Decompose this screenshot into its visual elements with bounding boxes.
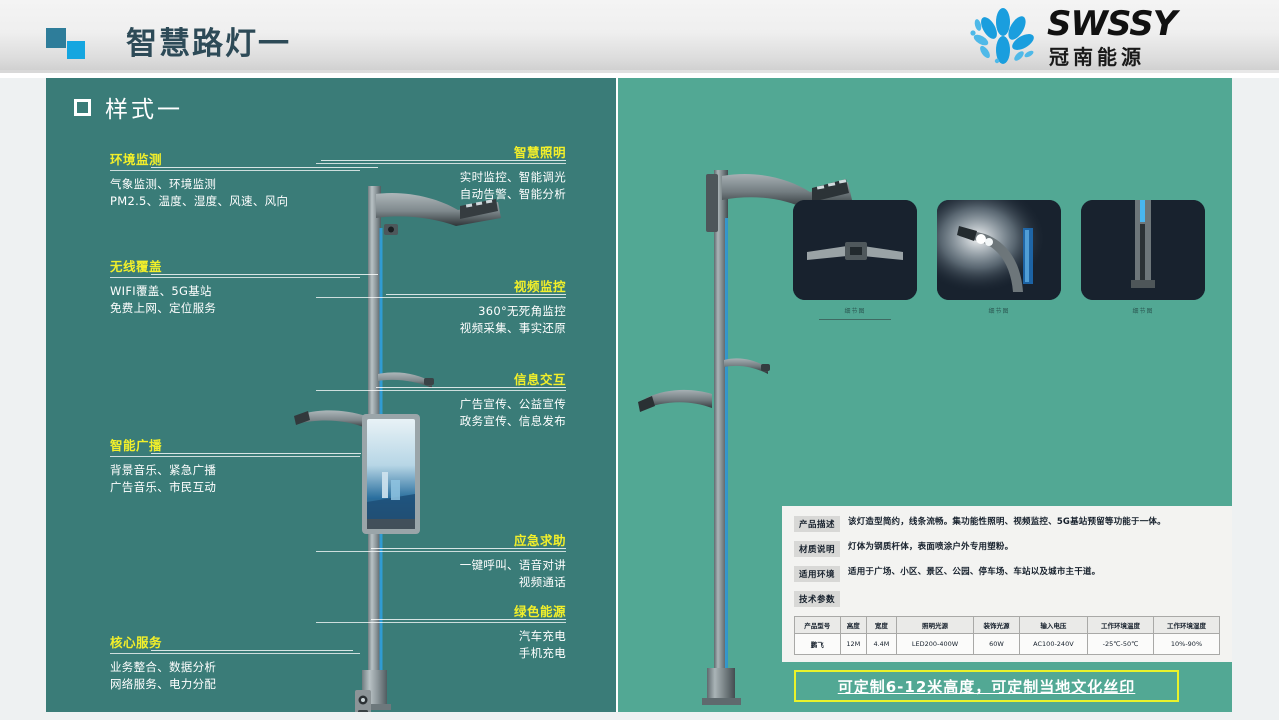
callout-video-surveillance: 视频监控 360°无死角监控 视频采集、事实还原 xyxy=(316,276,566,337)
table-cell: 鹏飞 xyxy=(795,634,841,655)
table-header-row: 产品型号 高度 宽度 照明光源 装饰光源 输入电压 工作环境温度 工作环境湿度 xyxy=(795,617,1220,634)
table-header-cell: 产品型号 xyxy=(795,617,841,634)
bottom-margin-strip xyxy=(0,712,1279,720)
spec-row-description: 产品描述 该灯造型简约，线条流畅。集功能性照明、视频监控、5G基站预留等功能于一… xyxy=(794,516,1220,532)
table-cell: AC100-240V xyxy=(1019,634,1087,655)
callout-line: 实时监控、智能调光 xyxy=(316,169,566,186)
callout-rule xyxy=(316,622,566,623)
callout-rule xyxy=(316,297,566,298)
spec-value: 该灯造型简约，线条流畅。集功能性照明、视频监控、5G基站预留等功能于一体。 xyxy=(848,516,1166,529)
callout-line: 手机充电 xyxy=(316,645,566,662)
callout-line: 背景音乐、紧急广播 xyxy=(110,462,360,479)
brand-subtitle: 冠南能源 xyxy=(1049,41,1145,70)
callout-title: 智慧照明 xyxy=(316,142,566,163)
callout-rule xyxy=(316,551,566,552)
customization-banner: 可定制6-12米高度，可定制当地文化丝印 xyxy=(794,670,1179,702)
table-cell: 60W xyxy=(974,634,1020,655)
thumbnail-caption: 细节图 xyxy=(1081,306,1205,315)
header-divider xyxy=(0,70,1279,73)
callout-information-interaction: 信息交互 广告宣传、公益宣传 政务宣传、信息发布 xyxy=(316,369,566,430)
customization-banner-text: 可定制6-12米高度，可定制当地文化丝印 xyxy=(838,676,1136,697)
spec-tag: 材质说明 xyxy=(794,541,840,557)
callout-rule xyxy=(316,163,566,164)
detail-thumbnail-row: 细节图 xyxy=(793,200,1205,320)
callout-green-energy: 绿色能源 汽车充电 手机充电 xyxy=(316,601,566,662)
table-row: 鹏飞 12M 4.4M LED200-400W 60W AC100-240V -… xyxy=(795,634,1220,655)
callout-line: 广告宣传、公益宣传 xyxy=(316,396,566,413)
table-cell: 4.4M xyxy=(867,634,897,655)
spec-tag: 产品描述 xyxy=(794,516,840,532)
header-square-dark-icon xyxy=(46,28,66,48)
spec-row-material: 材质说明 灯体为钢质杆体，表面喷涂户外专用塑粉。 xyxy=(794,541,1220,557)
callout-line: 360°无死角监控 xyxy=(316,303,566,320)
table-header-cell: 照明光源 xyxy=(896,617,973,634)
thumbnail-image-lit-lamp[interactable] xyxy=(937,200,1061,300)
company-logo: SWSSY 冠南能源 xyxy=(967,4,1217,68)
header-square-blue-icon xyxy=(67,41,85,59)
callout-title: 视频监控 xyxy=(316,276,566,297)
brand-name: SWSSY xyxy=(1047,4,1176,44)
product-spec-card: 产品描述 该灯造型简约，线条流畅。集功能性照明、视频监控、5G基站预留等功能于一… xyxy=(782,506,1232,662)
callout-line: 视频通话 xyxy=(316,574,566,591)
callout-line: 广告音乐、市民互动 xyxy=(110,479,360,496)
callout-rule xyxy=(316,390,566,391)
spec-tag: 适用环境 xyxy=(794,566,840,582)
water-droplet-logo-icon xyxy=(967,6,1039,66)
callout-line: 视频采集、事实还原 xyxy=(316,320,566,337)
table-header-cell: 装饰光源 xyxy=(974,617,1020,634)
callout-line: 网络服务、电力分配 xyxy=(110,676,360,693)
callout-line: 汽车充电 xyxy=(316,628,566,645)
callout-line: 一键呼叫、语音对讲 xyxy=(316,557,566,574)
table-cell: 12M xyxy=(840,634,867,655)
callout-title: 应急求助 xyxy=(316,530,566,551)
thumbnail-item[interactable]: 细节图 xyxy=(937,200,1061,320)
spec-table: 产品型号 高度 宽度 照明光源 装饰光源 输入电压 工作环境温度 工作环境湿度 … xyxy=(794,616,1220,655)
spec-value: 适用于广场、小区、景区、公园、停车场、车站以及城市主干道。 xyxy=(848,566,1100,579)
pole-section-detail-art xyxy=(1081,200,1205,300)
callout-rule xyxy=(110,456,360,457)
lit-lamp-detail-art xyxy=(937,200,1061,300)
slide-header: 智慧路灯一 xyxy=(0,0,1279,72)
thumbnail-underline xyxy=(819,319,891,320)
callout-line: 政务宣传、信息发布 xyxy=(316,413,566,430)
spec-value: 灯体为钢质杆体，表面喷涂户外专用塑粉。 xyxy=(848,541,1013,554)
left-diagram-panel: 样式一 xyxy=(46,78,616,712)
callout-title: 无线覆盖 xyxy=(110,256,360,277)
table-header-cell: 宽度 xyxy=(867,617,897,634)
thumbnail-caption: 细节图 xyxy=(937,306,1061,315)
thumbnail-caption: 细节图 xyxy=(793,306,917,315)
thumbnail-item[interactable]: 细节图 xyxy=(793,200,917,320)
right-product-panel: 细节图 xyxy=(618,78,1232,712)
table-header-cell: 高度 xyxy=(840,617,867,634)
callout-smart-broadcast: 智能广播 背景音乐、紧急广播 广告音乐、市民互动 xyxy=(110,435,360,496)
callout-emergency-help: 应急求助 一键呼叫、语音对讲 视频通话 xyxy=(316,530,566,591)
spec-tag: 技术参数 xyxy=(794,591,840,607)
callout-title: 绿色能源 xyxy=(316,601,566,622)
left-margin-strip xyxy=(0,78,46,712)
right-margin-strip xyxy=(1232,78,1279,712)
slide-root: 智慧路灯一 xyxy=(0,0,1279,720)
table-header-cell: 工作环境湿度 xyxy=(1154,617,1220,634)
table-cell: -25℃-50℃ xyxy=(1088,634,1154,655)
table-header-cell: 工作环境温度 xyxy=(1088,617,1154,634)
callout-line: 自动告警、智能分析 xyxy=(316,186,566,203)
page-title: 智慧路灯一 xyxy=(126,18,291,63)
thumbnail-item[interactable]: 细节图 xyxy=(1081,200,1205,320)
table-header-cell: 输入电压 xyxy=(1019,617,1087,634)
thumbnail-image-pole-section[interactable] xyxy=(1081,200,1205,300)
callout-title: 智能广播 xyxy=(110,435,360,456)
spec-row-parameters: 技术参数 xyxy=(794,591,1220,607)
thumbnail-image-luminaire[interactable] xyxy=(793,200,917,300)
spec-row-environment: 适用环境 适用于广场、小区、景区、公园、停车场、车站以及城市主干道。 xyxy=(794,566,1220,582)
callout-smart-lighting: 智慧照明 实时监控、智能调光 自动告警、智能分析 xyxy=(316,142,566,203)
table-cell: LED200-400W xyxy=(896,634,973,655)
luminaire-detail-art xyxy=(793,200,917,300)
callout-title: 信息交互 xyxy=(316,369,566,390)
table-cell: 10%-90% xyxy=(1154,634,1220,655)
